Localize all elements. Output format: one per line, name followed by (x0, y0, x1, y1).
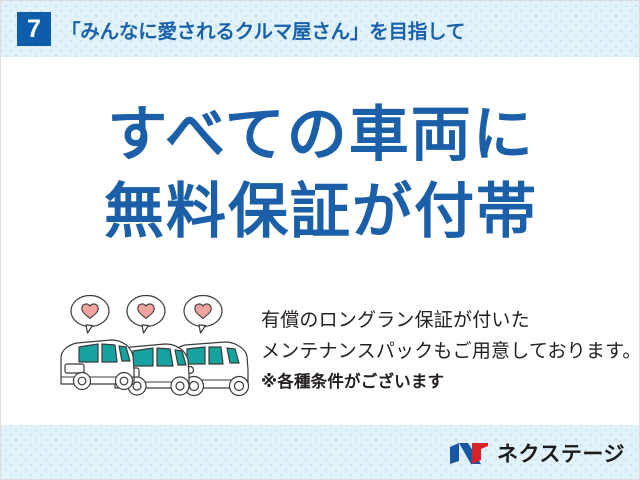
headline-line-1: すべての車両に (1, 97, 640, 174)
step-number-badge: 7 (17, 12, 51, 46)
description-text: 有償のロングラン保証が付いた メンテナンスパックもご用意しております。 ※各種条… (261, 306, 640, 395)
description-line-1: 有償のロングラン保証が付いた (261, 306, 640, 337)
brand-name: ネクステージ (497, 438, 625, 468)
description-note: ※各種条件がございます (261, 369, 640, 396)
description-line-2: メンテナンスパックもご用意しております。 (261, 337, 640, 368)
header-title: 「みんなに愛されるクルマ屋さん」を目指して (61, 15, 465, 44)
heart-bubble-right (184, 296, 222, 334)
car-kei-left (61, 340, 134, 390)
headline-line-2: 無料保証が付帯 (1, 174, 640, 251)
heart-bubble-center (127, 296, 165, 334)
brand-logo: ネクステージ (448, 438, 625, 468)
heart-bubble-left (71, 296, 109, 334)
promo-banner: 7 「みんなに愛されるクルマ屋さん」を目指して すべての車両に 無料保証が付帯 (0, 0, 640, 480)
headline: すべての車両に 無料保証が付帯 (1, 97, 640, 251)
three-cars-with-heart-bubbles-illustration (53, 292, 253, 400)
nexstage-n-mark-icon (448, 440, 490, 467)
lower-content: 有償のロングラン保証が付いた メンテナンスパックもご用意しております。 ※各種条… (1, 284, 640, 414)
header: 7 「みんなに愛されるクルマ屋さん」を目指して (1, 1, 640, 57)
